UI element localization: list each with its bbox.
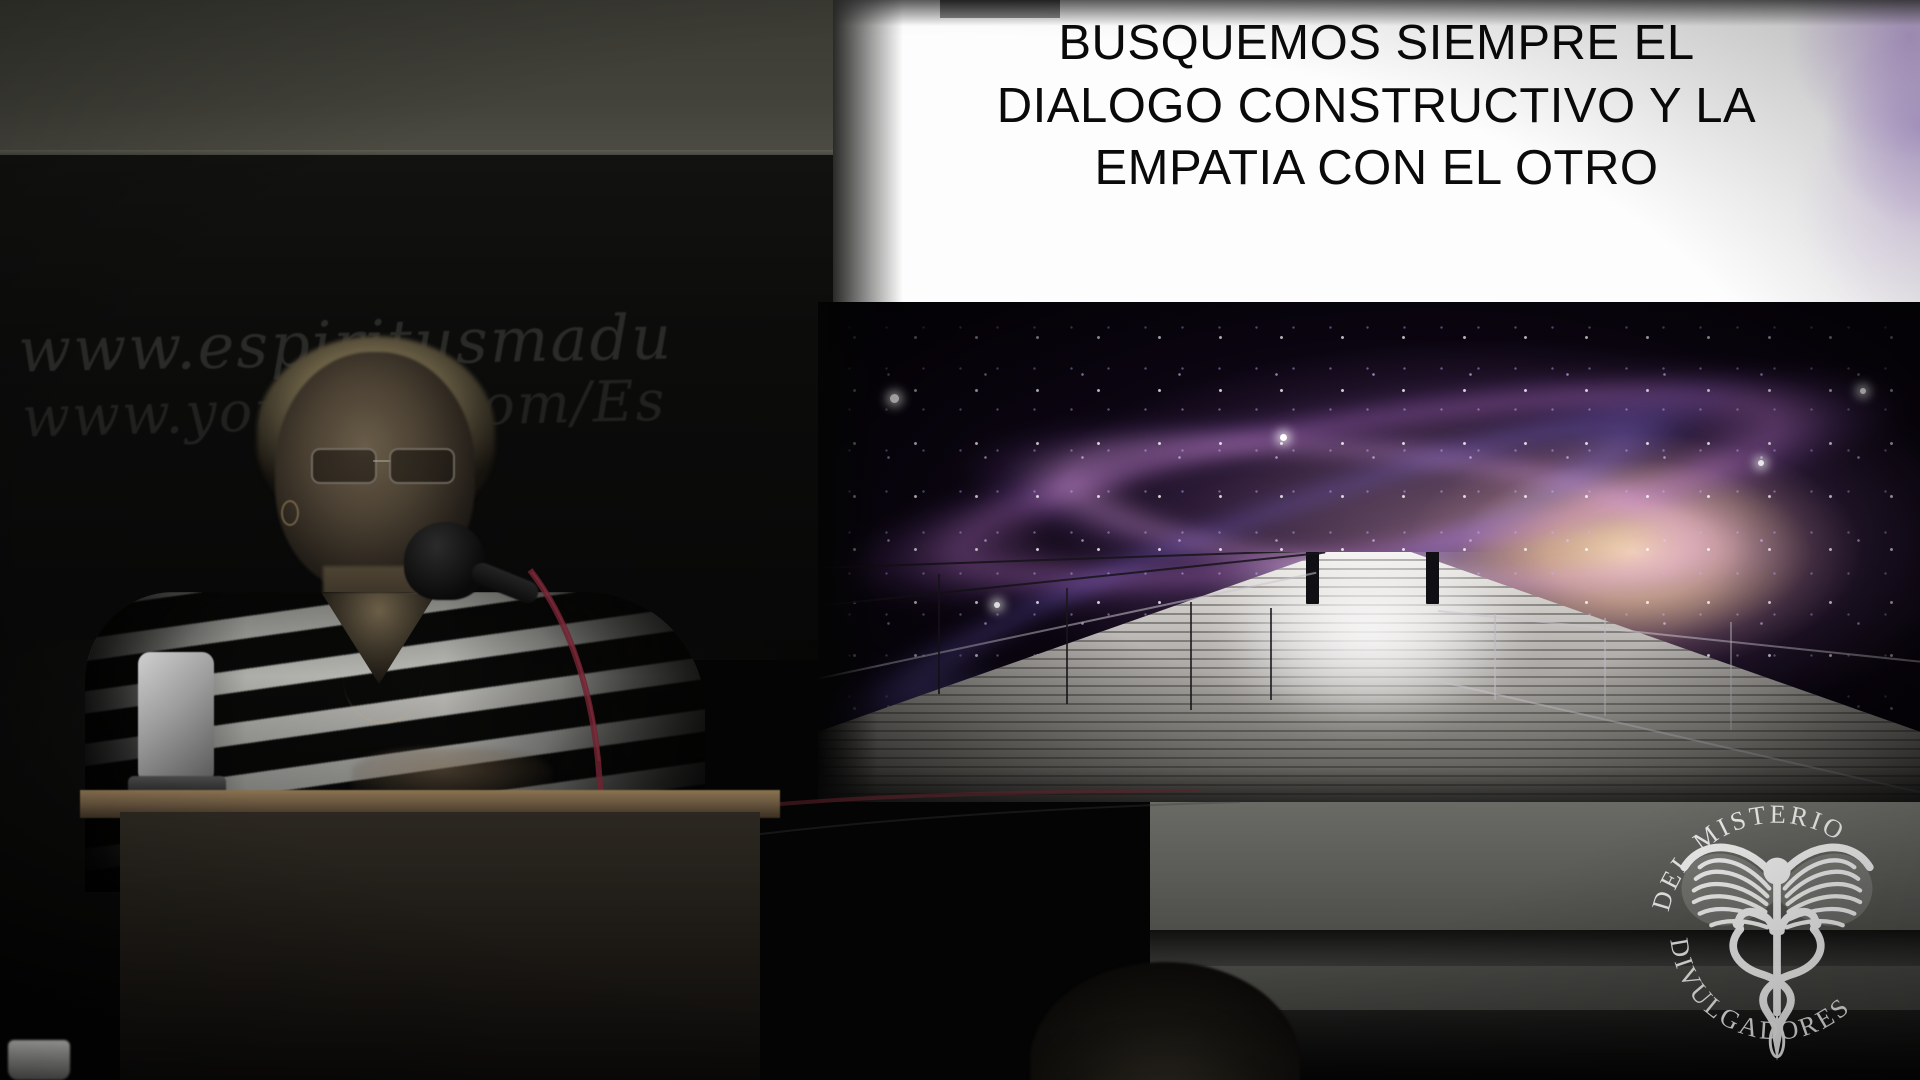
caduceus-symbol (1682, 847, 1873, 1060)
slide-heading-line-1: BUSQUEMOS SIEMPRE EL (833, 12, 1920, 75)
galaxy-vignette (818, 302, 1920, 802)
speaker-earring (281, 500, 299, 526)
speaker-necklace (343, 630, 423, 724)
slide-heading-line-3: EMPATIA CON EL OTRO (833, 137, 1920, 200)
glasses-lens-left (311, 448, 377, 484)
caduceus-icon: DIVULGADORES DEL MISTERIO (1632, 786, 1920, 1080)
podium-body (120, 812, 760, 1080)
divulgadores-del-misterio-logo: DIVULGADORES DEL MISTERIO (1632, 786, 1920, 1080)
video-frame: www.espiritusmadu www.youtube.com/Es BUS… (0, 0, 1920, 1080)
microphone-head (404, 522, 486, 600)
slide-galaxy-bridge-image (818, 302, 1920, 802)
speaker-glasses (311, 448, 461, 482)
glasses-lens-right (389, 448, 455, 484)
slide-image-left-fade (818, 302, 878, 802)
podium-device (138, 652, 214, 784)
podium-cup (8, 1040, 70, 1080)
slide-heading: BUSQUEMOS SIEMPRE EL DIALOGO CONSTRUCTIV… (833, 12, 1920, 200)
slide-heading-line-2: DIALOGO CONSTRUCTIVO Y LA (833, 75, 1920, 138)
logo-arc-text-top: DIVULGADORES (1664, 936, 1856, 1046)
